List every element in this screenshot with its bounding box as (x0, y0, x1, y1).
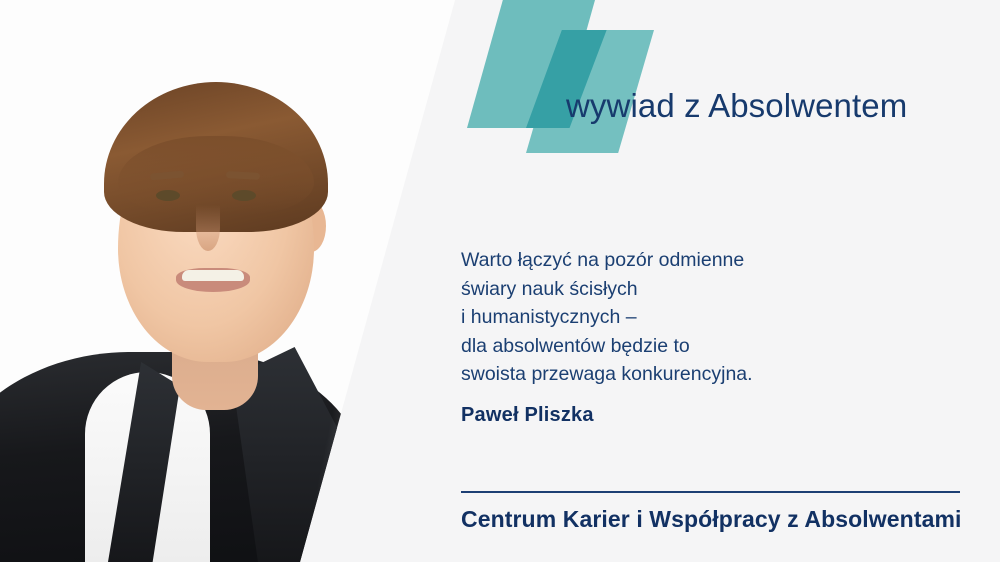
teeth (182, 270, 244, 281)
author-name: Paweł Pliszka (461, 404, 594, 427)
mouth (176, 268, 250, 292)
footer-organisation: Centrum Karier i Współpracy z Absolwenta… (461, 506, 962, 533)
quote-line: i humanistycznych – (461, 303, 753, 332)
quote-line: dla absolwentów będzie to (461, 332, 753, 361)
quote-line: Warto łączyć na pozór odmienne (461, 246, 753, 275)
nose (196, 205, 220, 251)
brand-logo-icon (455, 0, 625, 160)
portrait-panel (0, 0, 480, 562)
portrait-photo (0, 0, 420, 562)
quote-line: swoista przewaga konkurencyjna. (461, 360, 753, 389)
quote-block: Warto łączyć na pozór odmienne świary na… (461, 246, 753, 389)
page-title: wywiad z Absolwentem (566, 86, 907, 126)
eye-left (156, 190, 180, 201)
slide-canvas: wywiad z Absolwentem Warto łączyć na poz… (0, 0, 1000, 562)
quote-line: świary nauk ścisłych (461, 275, 753, 304)
eye-right (232, 190, 256, 201)
footer-divider (461, 491, 960, 493)
